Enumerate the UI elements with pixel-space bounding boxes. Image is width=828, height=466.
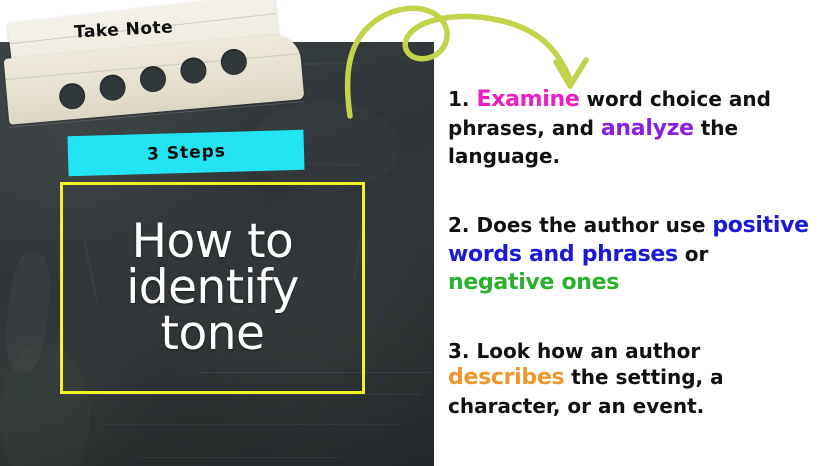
title-line-2: identify (126, 265, 299, 311)
chalk-smudge (60, 394, 420, 395)
chalk-smudge (140, 457, 340, 458)
punch-hole-icon (139, 65, 167, 93)
slide-canvas: Take Note 3 Steps How to identify tone 1… (0, 0, 828, 466)
take-note-tag: Take Note (6, 0, 306, 130)
chalk-smudge (100, 424, 400, 425)
note-2-number: 2. (448, 213, 470, 237)
note-item-3: 3. Look how an author describes the sett… (448, 338, 820, 419)
note-2-text-b: or (678, 242, 709, 266)
punch-hole-icon (99, 74, 127, 102)
note-1-highlight-examine: Examine (476, 87, 579, 112)
note-3-highlight-describes: describes (448, 365, 564, 390)
note-2-highlight-negative: negative ones (448, 270, 619, 295)
note-3-number: 3. (448, 339, 470, 363)
note-3-text-a: Look how an author (476, 339, 700, 363)
punch-hole-icon (220, 48, 248, 76)
paper-rule-line (10, 101, 305, 128)
title-line-1: How to (132, 219, 294, 265)
chalk-smudge (2, 250, 54, 374)
notes-panel: 1. Examine word choice and phrases, and … (434, 0, 828, 466)
page-title: How to identify tone (60, 186, 365, 390)
note-item-2: 2. Does the author use positive words an… (448, 212, 820, 298)
note-1-highlight-analyze: analyze (601, 116, 694, 141)
steps-banner-label: 3 Steps (146, 141, 226, 165)
note-2-text-a: Does the author use (476, 213, 712, 237)
note-1-number: 1. (448, 87, 470, 111)
steps-banner: 3 Steps (67, 130, 304, 177)
punch-hole-icon (58, 82, 86, 110)
note-item-1: 1. Examine word choice and phrases, and … (448, 86, 820, 169)
title-line-3: tone (161, 311, 265, 357)
